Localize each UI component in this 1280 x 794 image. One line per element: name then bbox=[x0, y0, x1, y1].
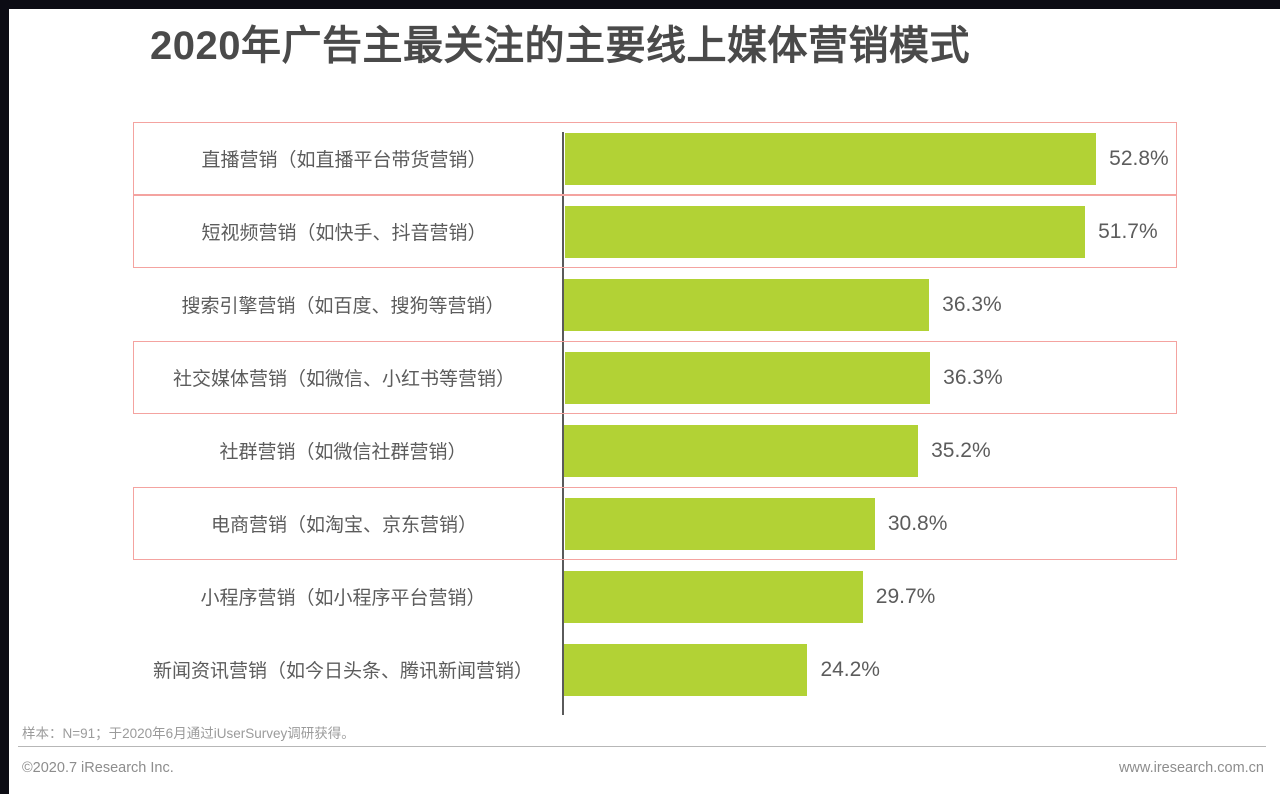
bar bbox=[565, 206, 1085, 258]
bar bbox=[564, 644, 807, 696]
bar-value-label: 51.7% bbox=[1098, 220, 1158, 244]
category-label: 新闻资讯营销（如今日头条、腾讯新闻营销） bbox=[133, 633, 553, 706]
chart-row: 社交媒体营销（如微信、小红书等营销）36.3% bbox=[133, 341, 1177, 414]
bar-value-label: 35.2% bbox=[931, 439, 991, 463]
bar-value-label: 30.8% bbox=[888, 512, 948, 536]
bar-value-label: 36.3% bbox=[942, 293, 1002, 317]
chart-row: 短视频营销（如快手、抖音营销）51.7% bbox=[133, 195, 1177, 268]
chart-row: 搜索引擎营销（如百度、搜狗等营销）36.3% bbox=[133, 268, 1177, 341]
bar bbox=[565, 133, 1096, 185]
bar bbox=[564, 425, 918, 477]
chart-row: 小程序营销（如小程序平台营销）29.7% bbox=[133, 560, 1177, 633]
chart-row: 新闻资讯营销（如今日头条、腾讯新闻营销）24.2% bbox=[133, 633, 1177, 706]
chart-row: 电商营销（如淘宝、京东营销）30.8% bbox=[133, 487, 1177, 560]
category-label: 直播营销（如直播平台带货营销） bbox=[134, 123, 554, 194]
left-accent-bar bbox=[0, 9, 9, 794]
category-label: 社交媒体营销（如微信、小红书等营销） bbox=[134, 342, 554, 413]
category-label: 短视频营销（如快手、抖音营销） bbox=[134, 196, 554, 267]
category-label: 社群营销（如微信社群营销） bbox=[133, 414, 553, 487]
bar-value-label: 24.2% bbox=[820, 658, 880, 682]
bar-value-label: 52.8% bbox=[1109, 147, 1169, 171]
bar bbox=[565, 498, 875, 550]
bar-value-label: 29.7% bbox=[876, 585, 936, 609]
copyright-text: ©2020.7 iResearch Inc. bbox=[22, 760, 174, 776]
category-label: 小程序营销（如小程序平台营销） bbox=[133, 560, 553, 633]
chart-row: 直播营销（如直播平台带货营销）52.8% bbox=[133, 122, 1177, 195]
top-accent-bar bbox=[0, 0, 1280, 9]
bar-chart: 直播营销（如直播平台带货营销）52.8%短视频营销（如快手、抖音营销）51.7%… bbox=[133, 118, 1177, 702]
slide-canvas: 2020年广告主最关注的主要线上媒体营销模式 直播营销（如直播平台带货营销）52… bbox=[0, 0, 1280, 794]
bar bbox=[565, 352, 930, 404]
sample-footnote: 样本：N=91；于2020年6月通过iUserSurvey调研获得。 bbox=[22, 722, 355, 742]
bar bbox=[564, 571, 863, 623]
category-label: 电商营销（如淘宝、京东营销） bbox=[134, 488, 554, 559]
category-label: 搜索引擎营销（如百度、搜狗等营销） bbox=[133, 268, 553, 341]
page-title: 2020年广告主最关注的主要线上媒体营销模式 bbox=[150, 16, 1150, 76]
bar-value-label: 36.3% bbox=[943, 366, 1003, 390]
website-link[interactable]: www.iresearch.com.cn bbox=[1119, 760, 1264, 776]
chart-row: 社群营销（如微信社群营销）35.2% bbox=[133, 414, 1177, 487]
footer-divider bbox=[18, 746, 1266, 747]
bar bbox=[564, 279, 929, 331]
